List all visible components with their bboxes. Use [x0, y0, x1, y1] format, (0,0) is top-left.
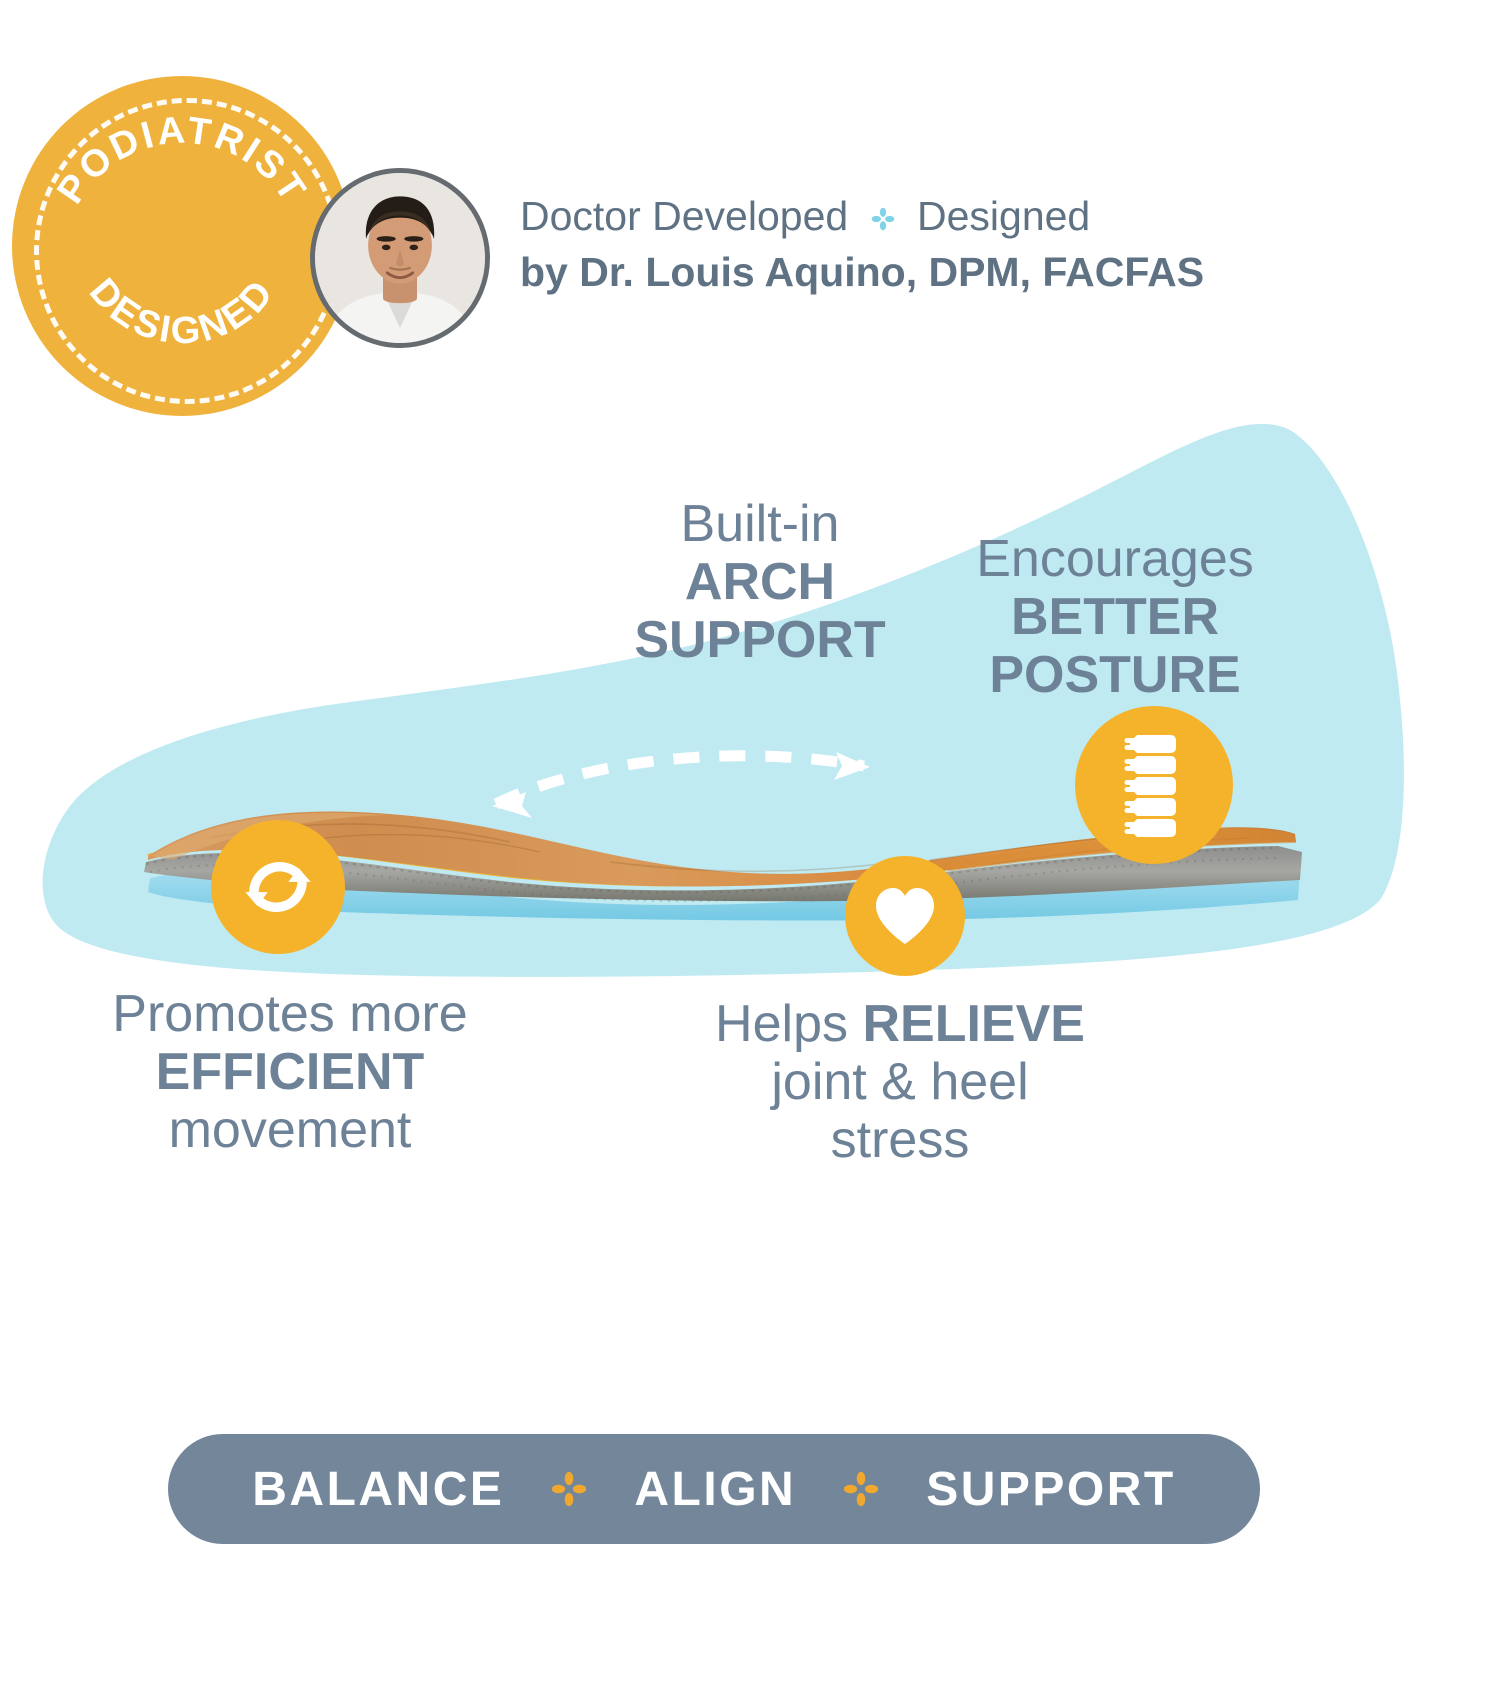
banner-word-support: SUPPORT	[926, 1462, 1176, 1517]
caduceus-icon	[0, 0, 107, 171]
callout-arch-bold-2: SUPPORT	[565, 611, 955, 669]
callout-efficient-movement: Promotes more EFFICIENT movement	[30, 985, 550, 1160]
spine-icon-badge	[1075, 706, 1233, 864]
callout-posture-regular: Encourages	[905, 530, 1325, 588]
callout-efficient-line-3: movement	[30, 1101, 550, 1159]
callout-better-posture: Encourages BETTER POSTURE	[905, 530, 1325, 705]
callout-arch-bold-1: ARCH	[565, 553, 955, 611]
callout-relieve-bold: RELIEVE	[862, 995, 1085, 1053]
doctor-credit-part-2: Designed	[917, 193, 1090, 239]
banner-word-align: ALIGN	[634, 1462, 796, 1517]
callout-relieve-stress: Helps RELIEVE joint & heel stress	[650, 995, 1150, 1170]
doctor-credit-part-1: Doctor Developed	[520, 193, 848, 239]
podiatrist-designed-badge: PODIATRIST DESIGNED	[12, 76, 352, 416]
heart-icon	[872, 885, 938, 947]
badge-bottom-label: DESIGNED	[81, 271, 283, 353]
callout-relieve-line-2: joint & heel	[650, 1053, 1150, 1111]
arch-support-dashed-arrow	[440, 730, 1040, 840]
callout-efficient-line-2: EFFICIENT	[30, 1043, 550, 1101]
callout-relieve-line-1: Helps RELIEVE	[650, 995, 1150, 1053]
banner-word-balance: BALANCE	[252, 1462, 504, 1517]
doctor-credit-text: Doctor Developed Designed by Dr. Louis A…	[520, 192, 1280, 297]
callout-relieve-line-3: stress	[650, 1111, 1150, 1169]
callout-relieve-regular: Helps	[715, 995, 862, 1053]
cycle-icon	[235, 844, 321, 930]
doctor-portrait-avatar	[310, 168, 490, 348]
callout-arch-regular: Built-in	[565, 495, 955, 553]
balance-align-support-banner: BALANCE ALIGN SUPPOR	[168, 1434, 1260, 1544]
doctor-credit-line-1: Doctor Developed Designed	[520, 192, 1280, 242]
banner-cross-icon-2	[842, 1470, 880, 1508]
infographic-canvas: PODIATRIST DESIGNED	[0, 0, 1500, 1687]
doctor-credit-line-2: by Dr. Louis Aquino, DPM, FACFAS	[520, 248, 1280, 296]
spine-icon	[1119, 733, 1189, 837]
callout-posture-bold-1: BETTER	[905, 588, 1325, 646]
callout-arch-support: Built-in ARCH SUPPORT	[565, 495, 955, 670]
callout-efficient-line-1: Promotes more	[30, 985, 550, 1043]
banner-cross-icon-1	[550, 1470, 588, 1508]
cycle-icon-badge	[211, 820, 345, 954]
cross-icon	[870, 194, 896, 242]
doctor-portrait-image	[315, 173, 485, 343]
callout-posture-bold-2: POSTURE	[905, 646, 1325, 704]
heart-icon-badge	[845, 856, 965, 976]
